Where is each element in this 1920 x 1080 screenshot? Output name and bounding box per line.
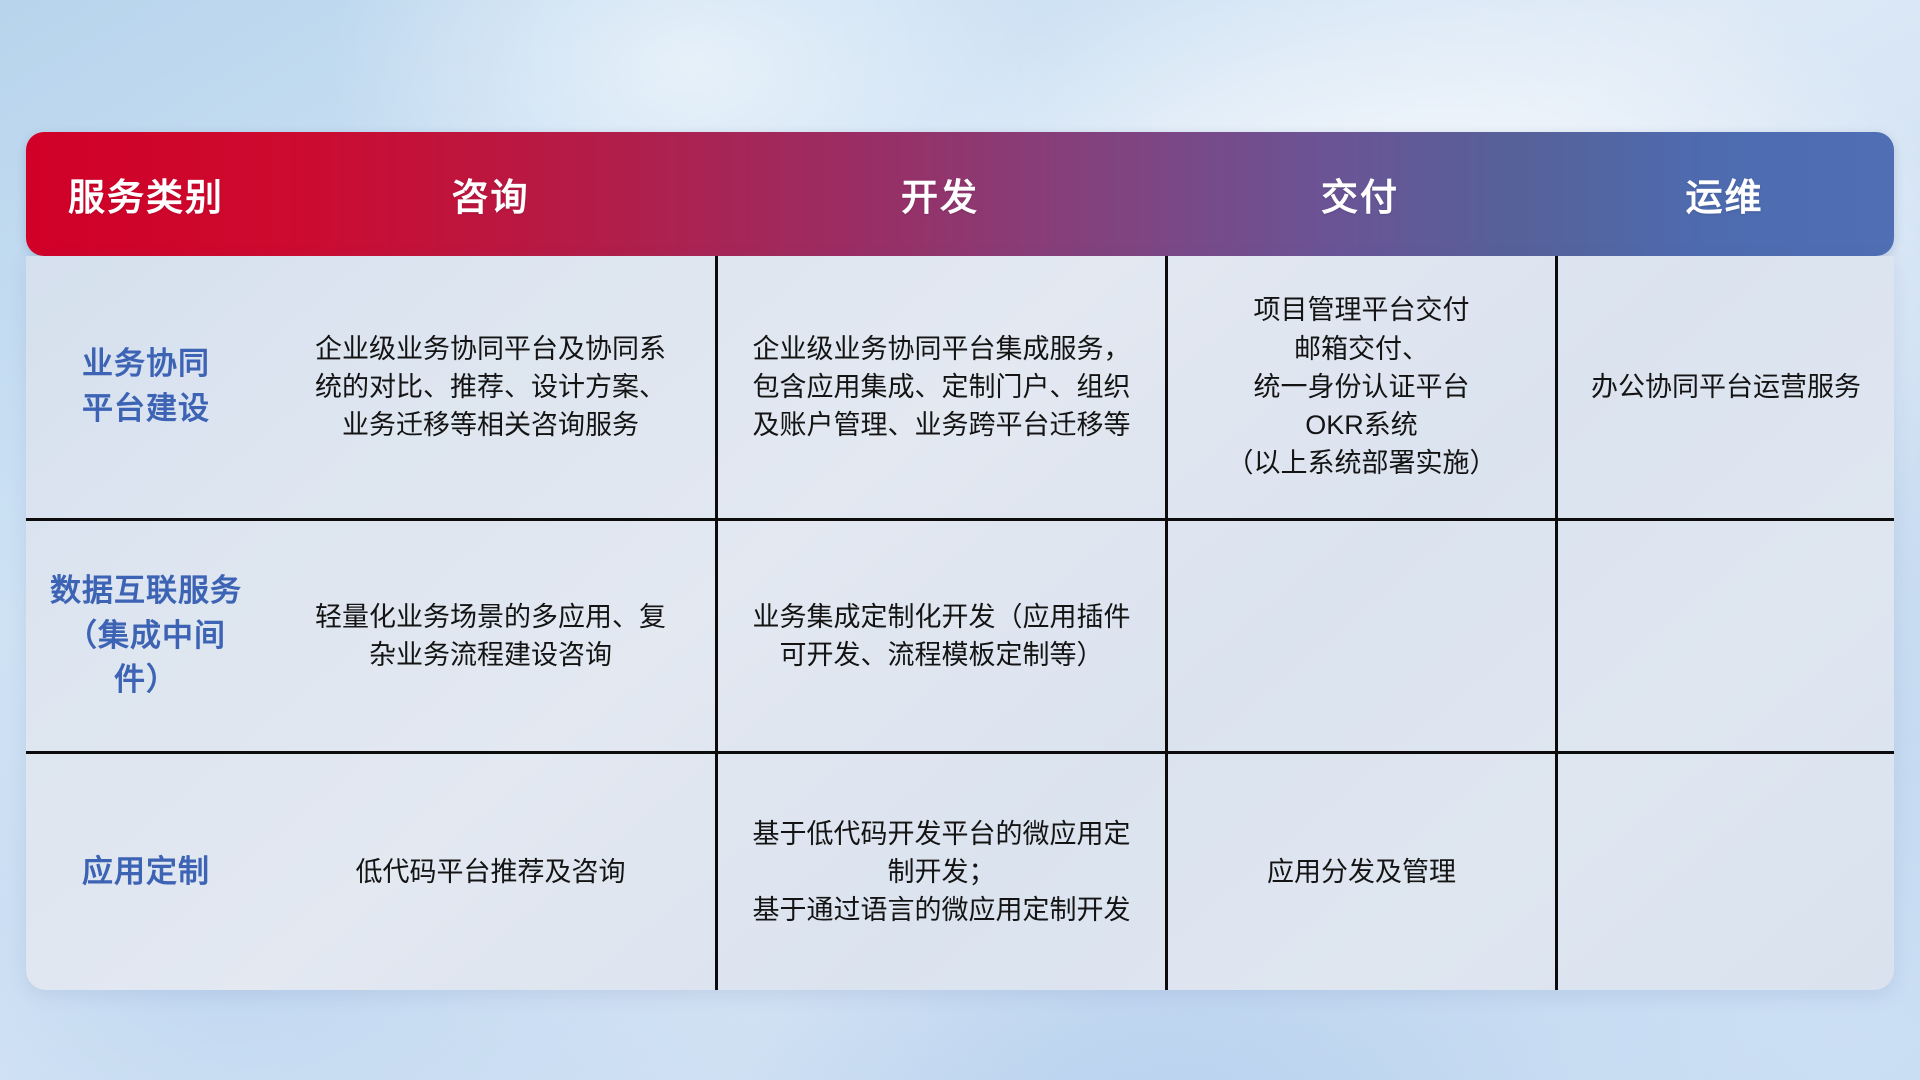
column-header-category: 服务类别 <box>26 132 266 256</box>
cell-operations <box>1555 754 1894 990</box>
cell-operations <box>1555 521 1894 751</box>
column-header-operations: 运维 <box>1555 132 1894 256</box>
cell-consulting: 企业级业务协同平台及协同系 统的对比、推荐、设计方案、 业务迁移等相关咨询服务 <box>266 256 715 518</box>
cell-consulting: 轻量化业务场景的多应用、复 杂业务流程建设咨询 <box>266 521 715 751</box>
cell-delivery: 项目管理平台交付 邮箱交付、 统一身份认证平台 OKR系统 （以上系统部署实施） <box>1165 256 1555 518</box>
cell-delivery: 应用分发及管理 <box>1165 754 1555 990</box>
column-header-delivery: 交付 <box>1165 132 1555 256</box>
cell-delivery <box>1165 521 1555 751</box>
cell-development: 基于低代码开发平台的微应用定 制开发； 基于通过语言的微应用定制开发 <box>715 754 1165 990</box>
table-header-row: 服务类别 咨询 开发 交付 运维 <box>26 132 1894 256</box>
cell-development: 业务集成定制化开发（应用插件 可开发、流程模板定制等） <box>715 521 1165 751</box>
service-matrix-table: 服务类别 咨询 开发 交付 运维 业务协同 平台建设 企业级业务协同平台及协同系… <box>26 132 1894 990</box>
table-row: 应用定制 低代码平台推荐及咨询 基于低代码开发平台的微应用定 制开发； 基于通过… <box>26 751 1894 990</box>
table-body: 业务协同 平台建设 企业级业务协同平台及协同系 统的对比、推荐、设计方案、 业务… <box>26 256 1894 990</box>
row-category-label: 业务协同 平台建设 <box>26 256 266 518</box>
table-row: 业务协同 平台建设 企业级业务协同平台及协同系 统的对比、推荐、设计方案、 业务… <box>26 256 1894 518</box>
cell-development: 企业级业务协同平台集成服务， 包含应用集成、定制门户、组织 及账户管理、业务跨平… <box>715 256 1165 518</box>
column-header-consulting: 咨询 <box>266 132 715 256</box>
row-category-label: 数据互联服务 （集成中间件） <box>26 521 266 751</box>
cell-consulting: 低代码平台推荐及咨询 <box>266 754 715 990</box>
table-row: 数据互联服务 （集成中间件） 轻量化业务场景的多应用、复 杂业务流程建设咨询 业… <box>26 518 1894 751</box>
row-category-label: 应用定制 <box>26 754 266 990</box>
cell-operations: 办公协同平台运营服务 <box>1555 256 1894 518</box>
column-header-development: 开发 <box>715 132 1165 256</box>
